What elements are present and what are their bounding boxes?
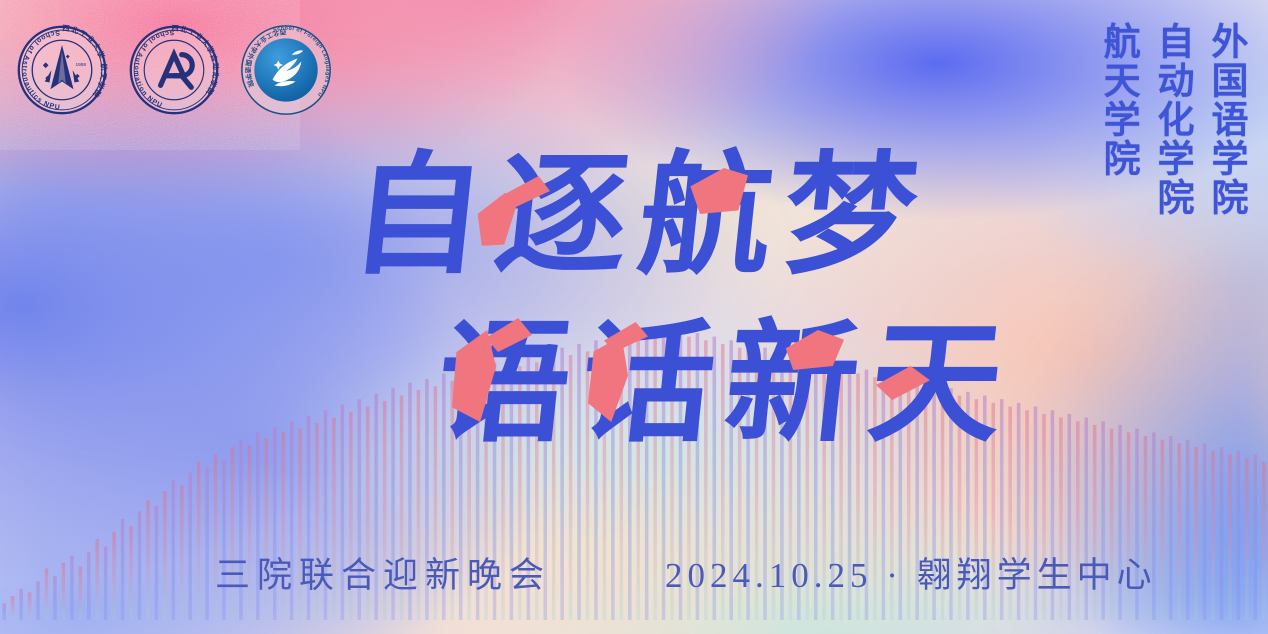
- college-name-columns: 航天学院 自动化学院 外国语学院: [1098, 22, 1246, 217]
- event-name: 三院联合迎新晚会: [215, 547, 551, 598]
- title-line-2: 语话新天: [431, 318, 1021, 450]
- event-date-venue: 2024.10.25 · 翱翔学生中心: [665, 547, 1157, 598]
- astronautics-logo-icon: 1958 School of Astronautics NPU 西北工业大学 航…: [14, 22, 110, 118]
- foreign-languages-logo-icon: School of Foreign Languages NPU 西北工业大学外国…: [238, 22, 334, 118]
- automation-logo-icon: School of Automation NPU 西北工业大学自动化学院: [126, 22, 222, 118]
- poster-canvas: 1958 School of Astronautics NPU 西北工业大学 航…: [0, 0, 1268, 634]
- astronautics-logo: 1958 School of Astronautics NPU 西北工业大学 航…: [14, 22, 110, 118]
- school-logo-row: 1958 School of Astronautics NPU 西北工业大学 航…: [14, 22, 334, 118]
- svg-text:1958: 1958: [75, 62, 86, 68]
- college-column-astronautics: 航天学院: [1098, 22, 1138, 217]
- title-line-1: 自逐航梦: [345, 150, 935, 282]
- automation-logo: School of Automation NPU 西北工业大学自动化学院: [126, 22, 222, 118]
- college-column-foreign-languages: 外国语学院: [1206, 22, 1246, 217]
- college-column-automation: 自动化学院: [1152, 22, 1192, 217]
- foreign-languages-logo: School of Foreign Languages NPU 西北工业大学外国…: [238, 22, 334, 118]
